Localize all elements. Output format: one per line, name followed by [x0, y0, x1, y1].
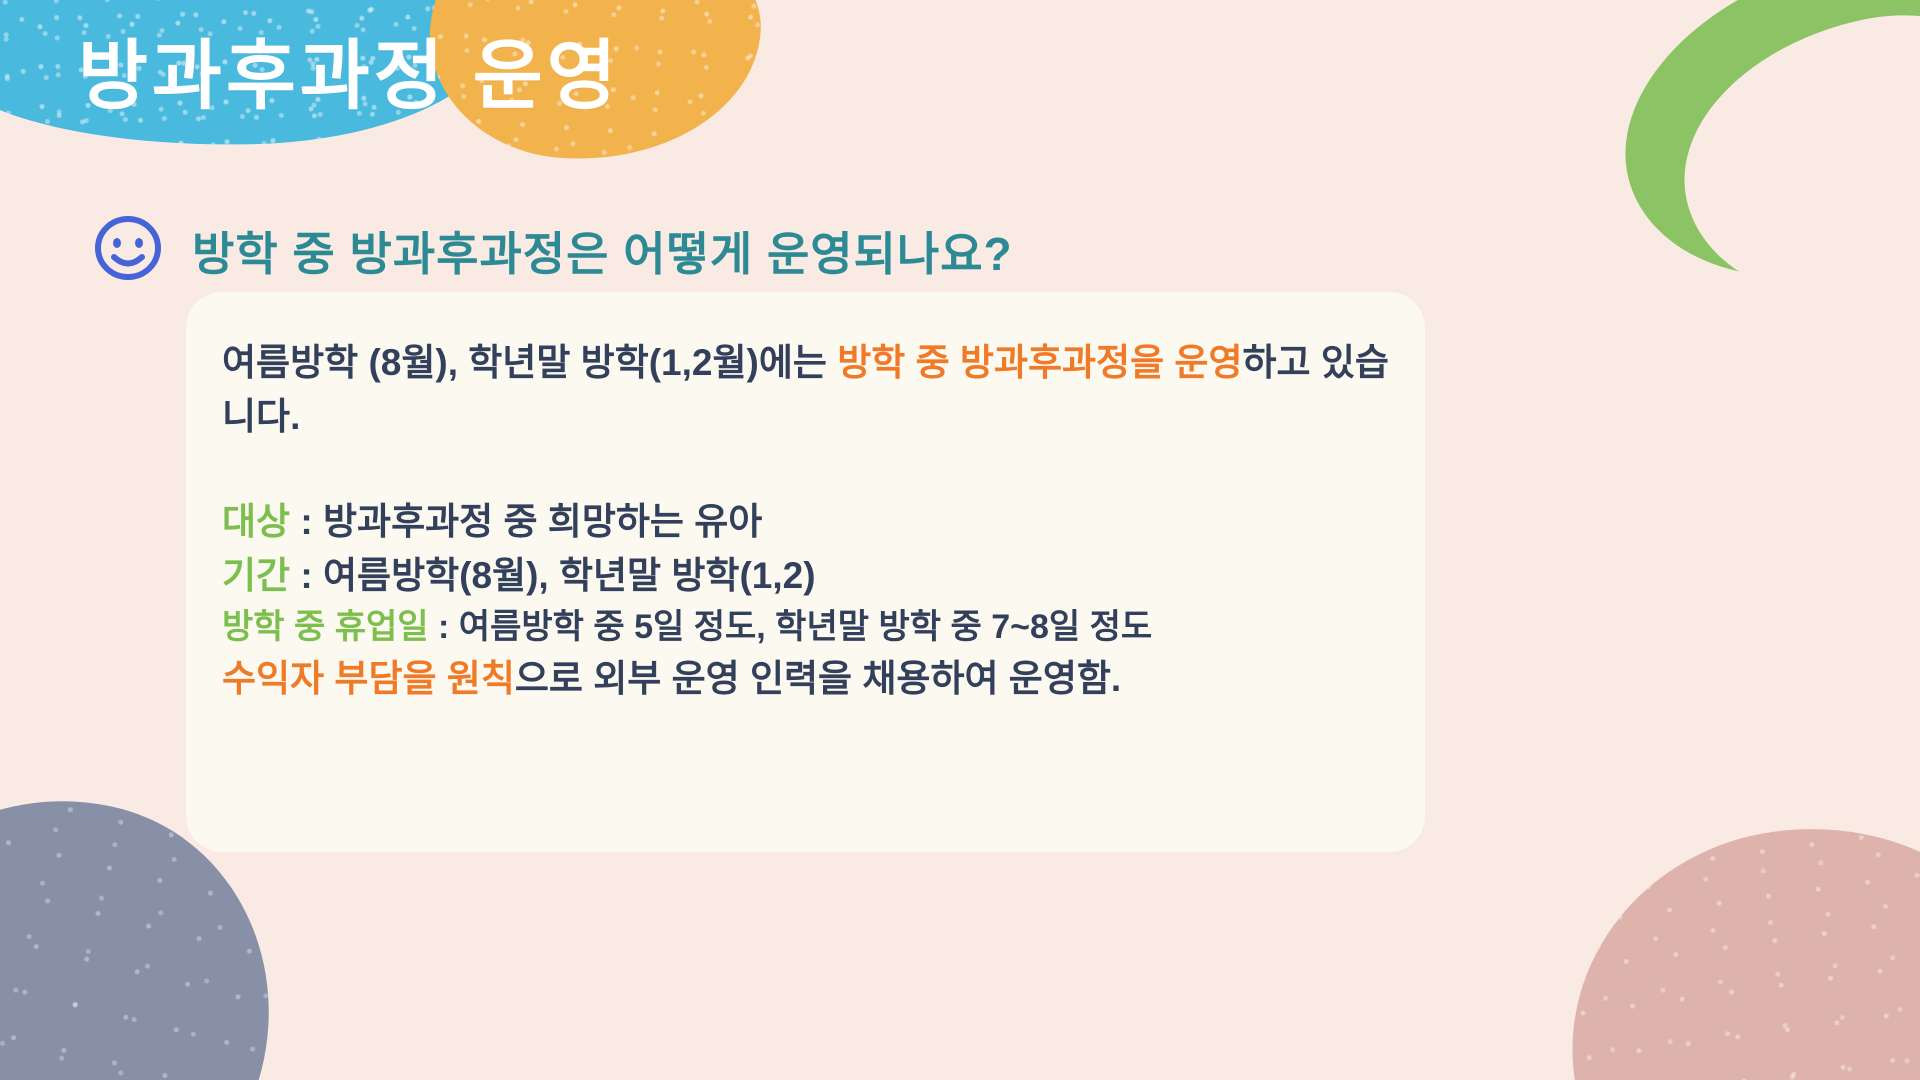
row-separator-target: :: [290, 501, 323, 542]
answer-card: 여름방학 (8월), 학년말 방학(1,2월)에는 방학 중 방과후과정을 운영…: [186, 292, 1425, 852]
brush-blob-green-icon: [1584, 0, 1920, 328]
question-heading: 방학 중 방과후과정은 어떻게 운영되나요?: [192, 218, 1013, 284]
detail-row-target: 대상 : 방과후과정 중 희망하는 유아: [222, 495, 1399, 549]
row-value-closure-days: 여름방학 중 5일 정도, 학년말 방학 중 7~8일 정도: [459, 608, 1152, 646]
paragraph-highlight: 방학 중 방과후과정을 운영: [837, 342, 1242, 383]
detail-row-period: 기간 : 여름방학(8월), 학년말 방학(1,2): [222, 549, 1399, 603]
cost-note-line: 수익자 부담을 원칙으로 외부 운영 인력을 채용하여 운영함.: [222, 652, 1399, 706]
row-label-period: 기간: [222, 555, 290, 596]
row-separator-closure-days: :: [429, 608, 459, 646]
brush-blob-pink-icon: [1544, 800, 1920, 1080]
cost-note-rest: 으로 외부 운영 인력을 채용하여 운영함.: [515, 658, 1121, 699]
detail-row-closure-days: 방학 중 휴업일 : 여름방학 중 5일 정도, 학년말 방학 중 7~8일 정…: [222, 603, 1399, 652]
question-row: 방학 중 방과후과정은 어떻게 운영되나요?: [92, 212, 1013, 289]
paragraph-spacer: [222, 443, 1399, 495]
row-value-target: 방과후과정 중 희망하는 유아: [323, 501, 762, 542]
answer-paragraph: 여름방학 (8월), 학년말 방학(1,2월)에는 방학 중 방과후과정을 운영…: [222, 336, 1399, 443]
row-value-period: 여름방학(8월), 학년말 방학(1,2): [323, 555, 816, 596]
page-title: 방과후과정 운영: [78, 14, 621, 124]
paragraph-part-1: 여름방학 (8월), 학년말 방학(1,2월)에는: [222, 342, 837, 383]
row-separator-period: :: [290, 555, 323, 596]
row-label-target: 대상: [222, 501, 290, 542]
cost-note-highlight: 수익자 부담을 원칙: [222, 658, 515, 699]
smiley-face-icon: [92, 212, 164, 289]
row-label-closure-days: 방학 중 휴업일: [222, 608, 429, 646]
